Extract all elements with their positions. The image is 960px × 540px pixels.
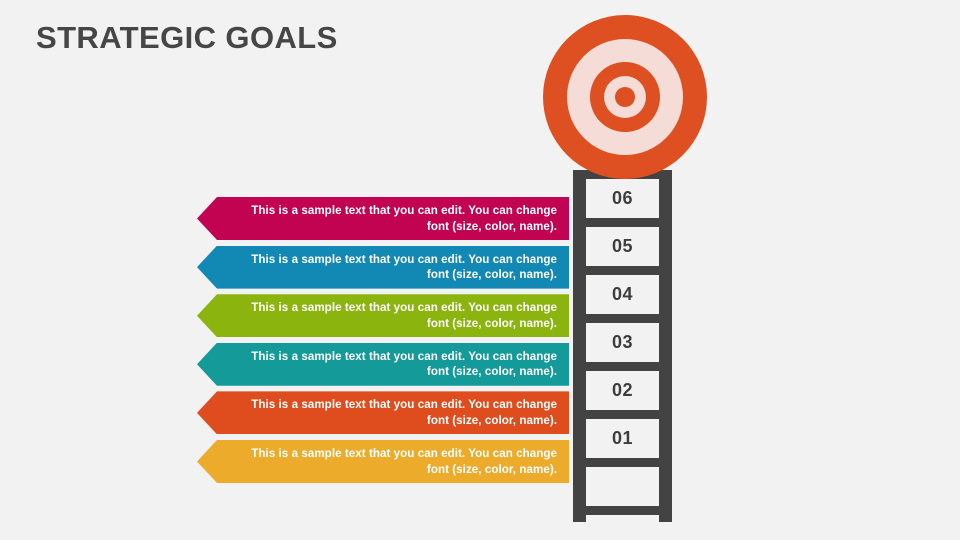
- goal-banner-text: This is a sample text that you can edit.…: [197, 300, 569, 331]
- ladder-rung-bar: [586, 410, 659, 419]
- ladder-rung-number: 05: [612, 236, 633, 257]
- goal-banner-02[interactable]: This is a sample text that you can edit.…: [197, 391, 569, 434]
- ladder-rail-right: [659, 170, 672, 522]
- ladder-rung-bar: [586, 506, 659, 515]
- goal-banner-text: This is a sample text that you can edit.…: [197, 397, 569, 428]
- ladder-rung-05[interactable]: 05: [586, 227, 659, 266]
- slide-canvas: STRATEGIC GOALS 060504030201 This is a s…: [0, 0, 960, 540]
- ladder-rung-06[interactable]: 06: [586, 179, 659, 218]
- goal-banner-text: This is a sample text that you can edit.…: [197, 349, 569, 380]
- ladder-rung-bar: [586, 314, 659, 323]
- goal-banner-06[interactable]: This is a sample text that you can edit.…: [197, 197, 569, 240]
- ladder-rung-number: 06: [612, 188, 633, 209]
- ladder-graphic: 060504030201: [573, 170, 672, 522]
- ladder-rung-01[interactable]: 01: [586, 419, 659, 458]
- ladder-rung-03[interactable]: 03: [586, 323, 659, 362]
- ladder-rung-bar: [586, 362, 659, 371]
- ladder-rung-bar: [586, 458, 659, 467]
- ladder-rung-stack: 060504030201: [586, 170, 659, 522]
- ladder-rung-bar: [586, 218, 659, 227]
- ladder-rung-number: 04: [612, 284, 633, 305]
- goal-banner-text: This is a sample text that you can edit.…: [197, 203, 569, 234]
- goal-banner-list: This is a sample text that you can edit.…: [197, 197, 569, 489]
- goal-banner-text: This is a sample text that you can edit.…: [197, 446, 569, 477]
- target-center-dot: [615, 87, 635, 107]
- ladder-rung-04[interactable]: 04: [586, 275, 659, 314]
- ladder-rung-number: 01: [612, 428, 633, 449]
- goal-banner-05[interactable]: This is a sample text that you can edit.…: [197, 246, 569, 289]
- ladder-rung-02[interactable]: 02: [586, 371, 659, 410]
- ladder-rung-bar: [586, 266, 659, 275]
- bullseye-target-icon: [543, 15, 707, 179]
- ladder-rung-number: 03: [612, 332, 633, 353]
- ladder-rail-left: [573, 170, 586, 522]
- goal-banner-03[interactable]: This is a sample text that you can edit.…: [197, 343, 569, 386]
- goal-banner-text: This is a sample text that you can edit.…: [197, 252, 569, 283]
- goal-banner-01[interactable]: This is a sample text that you can edit.…: [197, 440, 569, 483]
- page-title: STRATEGIC GOALS: [36, 18, 338, 58]
- goal-banner-04[interactable]: This is a sample text that you can edit.…: [197, 294, 569, 337]
- ladder-rung-number: 02: [612, 380, 633, 401]
